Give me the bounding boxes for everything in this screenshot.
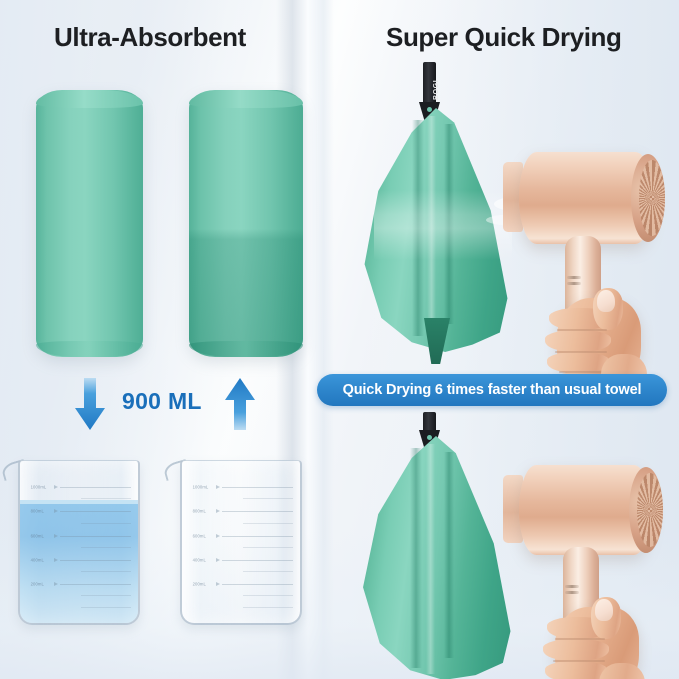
handle-ring bbox=[565, 591, 579, 594]
beaker-empty: 1000mL 800mL 600mL 400mL 200mL bbox=[180, 460, 302, 625]
highlight-banner: Quick Drying 6 times faster than usual t… bbox=[317, 374, 667, 406]
beaker-graduations-empty: 1000mL 800mL 600mL 400mL 200mL bbox=[182, 461, 300, 623]
graduation-label: 800mL bbox=[31, 509, 44, 514]
right-panel-heading: Super Quick Drying bbox=[386, 24, 622, 50]
cloth-fold bbox=[426, 444, 435, 674]
hair-dryer-bottom bbox=[505, 455, 679, 679]
graduation-label: 400mL bbox=[31, 557, 44, 562]
cloth-shadow bbox=[444, 452, 454, 658]
graduation-label: 1000mL bbox=[193, 484, 209, 489]
beaker-filled: 1000mL 800mL 600mL 400mL 200mL bbox=[18, 460, 140, 625]
handle-ring bbox=[567, 282, 581, 285]
finger bbox=[545, 661, 607, 679]
graduation-label: 800mL bbox=[193, 509, 206, 514]
absorbed-volume-label: 900 ML bbox=[122, 388, 202, 415]
graduation-label: 600mL bbox=[193, 533, 206, 538]
knuckle-line bbox=[555, 351, 607, 353]
graduation-label: 200mL bbox=[193, 582, 206, 587]
handle-ring bbox=[565, 585, 579, 588]
beaker-graduations-filled: 1000mL 800mL 600mL 400mL 200mL bbox=[20, 461, 138, 623]
wet-towel-roll bbox=[189, 90, 303, 357]
knuckle-line bbox=[559, 371, 605, 373]
finger bbox=[543, 639, 609, 661]
knuckle-line bbox=[555, 638, 605, 640]
highlight-banner-text: Quick Drying 6 times faster than usual t… bbox=[343, 382, 642, 398]
cloth-shadow bbox=[410, 448, 422, 668]
airflow-blur bbox=[374, 190, 512, 260]
finger bbox=[545, 330, 611, 352]
hanger-strap: BOGI bbox=[423, 62, 436, 106]
hair-dryer-top bbox=[505, 140, 679, 370]
graduation-label: 600mL bbox=[31, 533, 44, 538]
thumbnail bbox=[595, 599, 613, 621]
towel-cloth bbox=[360, 436, 512, 679]
handle-ring bbox=[567, 276, 581, 279]
infographic-canvas: Ultra-Absorbent Super Quick Drying bbox=[0, 0, 679, 679]
dry-towel-roll bbox=[36, 90, 143, 357]
arrow-down-icon bbox=[72, 378, 108, 430]
knuckle-line bbox=[557, 329, 607, 331]
graduation-label: 1000mL bbox=[31, 484, 47, 489]
graduation-label: 200mL bbox=[31, 582, 44, 587]
finger bbox=[547, 352, 609, 373]
left-panel-heading: Ultra-Absorbent bbox=[54, 24, 246, 50]
thumbnail bbox=[597, 290, 615, 312]
dryer-air-intake-grill bbox=[637, 473, 663, 547]
hanger-brand-label: BOGI bbox=[433, 80, 440, 100]
graduation-label: 400mL bbox=[193, 557, 206, 562]
arrow-up-icon bbox=[222, 378, 258, 430]
dryer-air-intake-grill bbox=[639, 160, 665, 236]
knuckle-line bbox=[553, 660, 605, 662]
